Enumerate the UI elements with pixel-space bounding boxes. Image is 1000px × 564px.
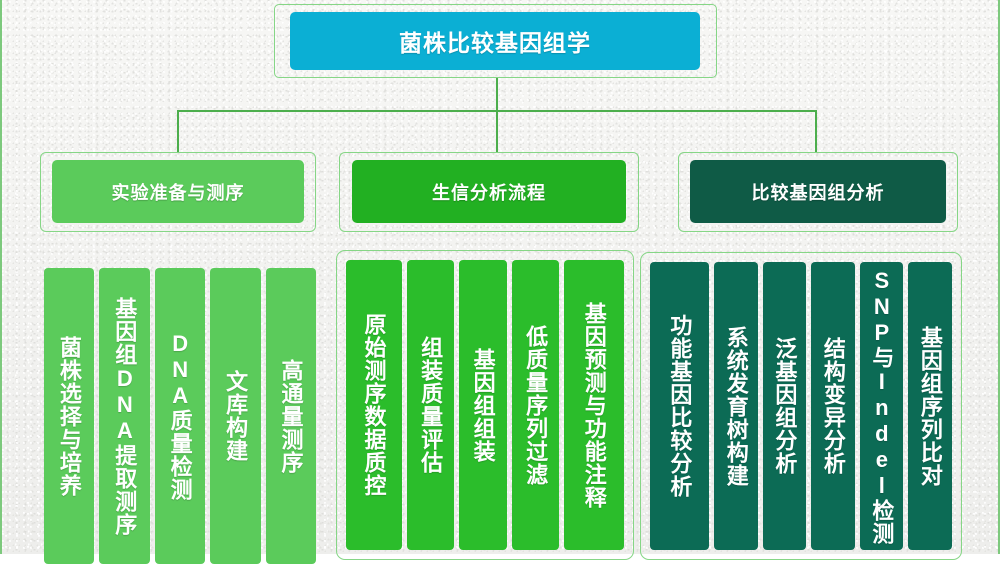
leaf-node-label: 原始测序数据质控 <box>362 313 385 497</box>
leaf-node-label: 低质量序列过滤 <box>524 325 547 486</box>
root-node-label: 菌株比较基因组学 <box>399 24 591 58</box>
connector-to-group-2 <box>496 110 498 152</box>
leaf-node-label: DNA质量检测 <box>168 331 191 501</box>
leaf-node[interactable]: DNA质量检测 <box>155 268 205 564</box>
connector-title-down <box>496 78 498 111</box>
diagram-canvas: 菌株比较基因组学 实验准备与测序 菌株选择与培养 基因组DNA提取测序 DNA质… <box>0 0 1000 554</box>
leaf-node[interactable]: 菌株选择与培养 <box>44 268 94 564</box>
group-2-header[interactable]: 生信分析流程 <box>352 160 626 223</box>
leaf-node[interactable]: 基因组组装 <box>459 260 506 550</box>
connector-to-group-3 <box>815 110 817 152</box>
leaf-node-label: 菌株选择与培养 <box>58 336 81 497</box>
leaf-node-label: 功能基因比较分析 <box>668 314 691 498</box>
leaf-node[interactable]: 基因组DNA提取测序 <box>99 268 149 564</box>
leaf-node[interactable]: 原始测序数据质控 <box>346 260 402 550</box>
group-1-header-label: 实验准备与测序 <box>112 179 245 205</box>
group-2-header-label: 生信分析流程 <box>432 179 546 205</box>
leaf-node[interactable]: 结构变异分析 <box>811 262 855 550</box>
root-node[interactable]: 菌株比较基因组学 <box>290 12 700 70</box>
leaf-node[interactable]: 组装质量评估 <box>407 260 454 550</box>
leaf-node[interactable]: SNP与Indel检测 <box>860 262 904 550</box>
leaf-node[interactable]: 泛基因组分析 <box>763 262 807 550</box>
leaf-node-label: 组装质量评估 <box>419 336 442 474</box>
group-2-leaf-row: 原始测序数据质控 组装质量评估 基因组组装 低质量序列过滤 基因预测与功能注释 <box>346 260 624 550</box>
group-1-header[interactable]: 实验准备与测序 <box>52 160 304 223</box>
leaf-node-label: 泛基因组分析 <box>773 337 796 475</box>
leaf-node-label: 基因组序列比对 <box>919 326 942 487</box>
group-1-leaf-row: 菌株选择与培养 基因组DNA提取测序 DNA质量检测 文库构建 高通量测序 <box>44 268 316 564</box>
group-3-header-label: 比较基因组分析 <box>752 179 885 205</box>
group-3-header[interactable]: 比较基因组分析 <box>690 160 946 223</box>
leaf-node-label: 基因组组装 <box>471 348 494 463</box>
leaf-node[interactable]: 系统发育树构建 <box>714 262 758 550</box>
leaf-node[interactable]: 功能基因比较分析 <box>650 262 709 550</box>
group-3-leaf-row: 功能基因比较分析 系统发育树构建 泛基因组分析 结构变异分析 SNP与Indel… <box>650 262 952 550</box>
leaf-node[interactable]: 文库构建 <box>210 268 260 564</box>
leaf-node-label: 高通量测序 <box>279 359 302 474</box>
leaf-node[interactable]: 基因预测与功能注释 <box>564 260 624 550</box>
leaf-node-label: 文库构建 <box>224 370 247 462</box>
leaf-node-label: SNP与Indel检测 <box>870 268 893 545</box>
leaf-node-label: 基因预测与功能注释 <box>582 302 605 509</box>
connector-to-group-1 <box>177 110 179 152</box>
leaf-node[interactable]: 高通量测序 <box>266 268 316 564</box>
leaf-node[interactable]: 基因组序列比对 <box>908 262 952 550</box>
leaf-node[interactable]: 低质量序列过滤 <box>512 260 559 550</box>
leaf-node-label: 系统发育树构建 <box>724 326 747 487</box>
leaf-node-label: 结构变异分析 <box>822 337 845 475</box>
leaf-node-label: 基因组DNA提取测序 <box>113 297 136 536</box>
